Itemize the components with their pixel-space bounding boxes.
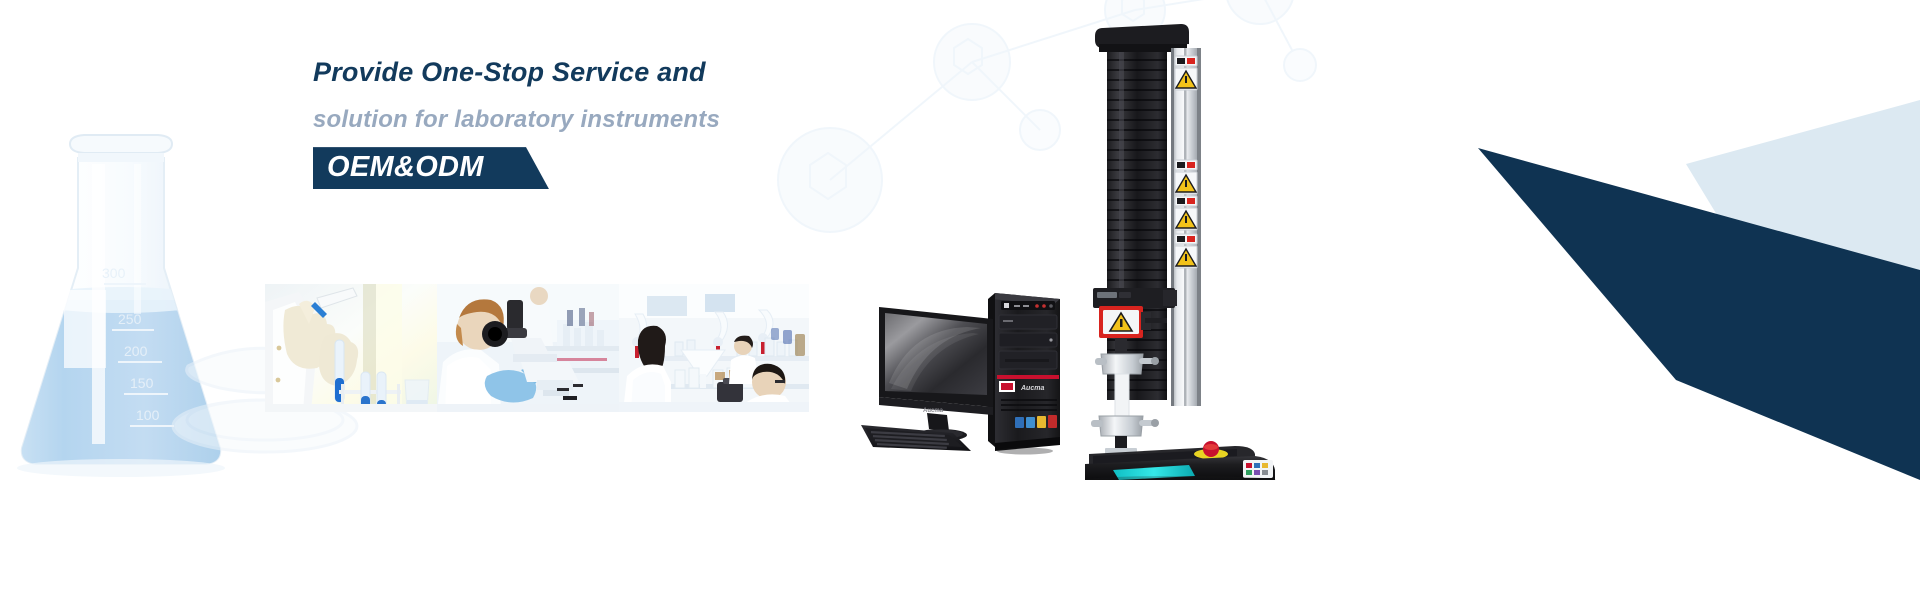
svg-text:100: 100	[136, 407, 160, 423]
headline-line-2: solution for laboratory instruments	[313, 107, 720, 133]
photo-microscope-researcher	[437, 284, 619, 412]
badge-label: OEM&ODM	[327, 151, 484, 184]
svg-text:Aucma: Aucma	[923, 408, 944, 414]
svg-text:300: 300	[102, 265, 126, 281]
svg-text:150: 150	[130, 375, 154, 391]
oem-odm-badge: OEM&ODM	[313, 147, 549, 189]
svg-text:Aucma: Aucma	[1020, 385, 1044, 392]
photo-strip	[265, 284, 809, 412]
headline-line-1: Provide One-Stop Service and	[313, 58, 720, 88]
tensile-testing-machine-icon	[1085, 18, 1285, 480]
svg-text:250: 250	[118, 311, 142, 327]
desktop-computer-icon: Aucma Aucma	[855, 285, 1070, 455]
headline-block: Provide One-Stop Service and solution fo…	[313, 58, 720, 189]
photo-laboratory-team	[619, 284, 809, 412]
svg-text:200: 200	[124, 343, 148, 359]
photo-pipetting-test-tubes	[265, 284, 437, 412]
dark-arrow-shape-icon	[1450, 80, 1920, 520]
promo-banner: 300 250 200 150 100	[0, 0, 1920, 597]
